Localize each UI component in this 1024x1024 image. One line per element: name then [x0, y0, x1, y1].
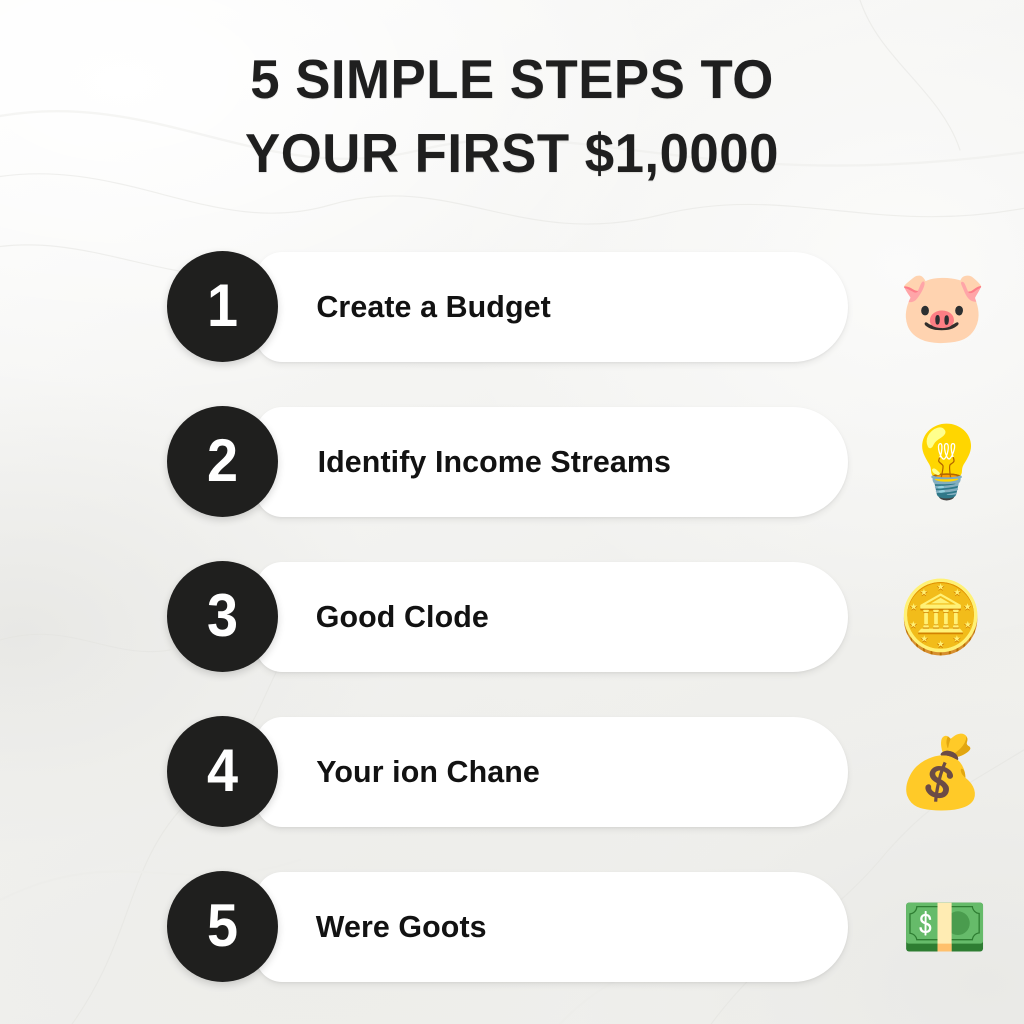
- step-number-badge: 4: [167, 716, 278, 827]
- step-number-badge: 5: [167, 871, 278, 982]
- step-label: Good Clode: [316, 562, 489, 672]
- step-number: 1: [171, 251, 274, 362]
- step-label: Were Goots: [316, 872, 487, 982]
- step-label: Your ion Chane: [316, 717, 540, 827]
- coin-stack-icon: 🪙: [886, 562, 996, 672]
- infographic-poster: 5 SIMPLE STEPS TO YOUR FIRST $1,0000 Cre…: [0, 0, 1024, 1024]
- lightbulb-icon: 💡: [892, 407, 1002, 517]
- steps-list: Create a Budget 🐷 1 Identify Income Stre…: [0, 252, 1024, 982]
- title-line-2: YOUR FIRST $1,0000: [20, 116, 1003, 190]
- step-item-5[interactable]: Were Goots 💵 5: [0, 872, 1024, 982]
- step-number: 2: [171, 406, 274, 517]
- step-number: 3: [171, 561, 274, 672]
- piggy-bank-icon: 🐷: [888, 252, 998, 362]
- step-number: 5: [171, 871, 274, 982]
- step-number-badge: 1: [167, 251, 278, 362]
- step-item-4[interactable]: Your ion Chane 💰 4: [0, 717, 1024, 827]
- banknote-stack-icon: 💵: [890, 872, 1000, 982]
- step-number-badge: 3: [167, 561, 278, 672]
- step-item-3[interactable]: Good Clode 🪙 3: [0, 562, 1024, 672]
- step-item-2[interactable]: Identify Income Streams 💡 2: [0, 407, 1024, 517]
- title-line-1: 5 SIMPLE STEPS TO: [20, 42, 1003, 116]
- step-number-badge: 2: [167, 406, 278, 517]
- money-bag-icon: 💰: [886, 717, 996, 827]
- step-number: 4: [171, 716, 274, 827]
- step-item-1[interactable]: Create a Budget 🐷 1: [0, 252, 1024, 362]
- step-label: Create a Budget: [316, 252, 550, 362]
- page-title: 5 SIMPLE STEPS TO YOUR FIRST $1,0000: [0, 42, 1024, 190]
- step-label: Identify Income Streams: [318, 407, 671, 517]
